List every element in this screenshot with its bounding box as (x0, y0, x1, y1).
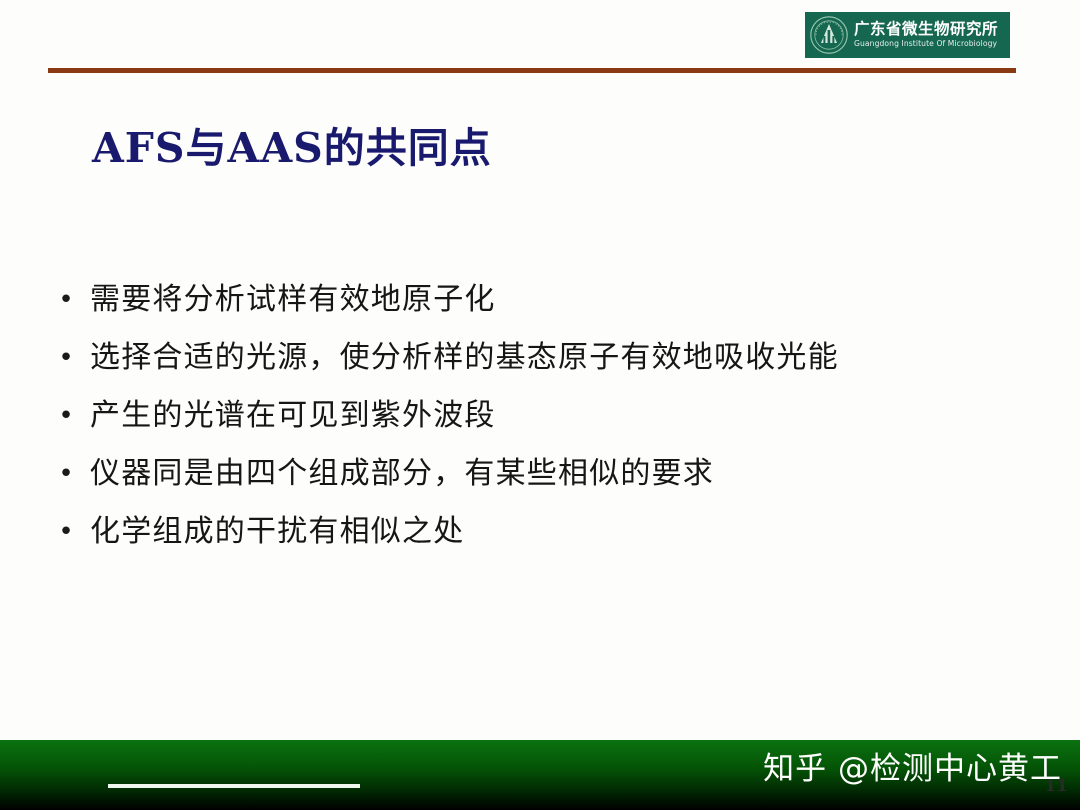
logo-text-block: 广东省微生物研究所 Guangdong Institute Of Microbi… (854, 22, 998, 48)
gim-circular-emblem-icon (809, 15, 849, 55)
footer-divider (108, 784, 360, 788)
institute-logo: 广东省微生物研究所 Guangdong Institute Of Microbi… (805, 12, 1010, 58)
bullet-marker-icon: • (42, 452, 90, 496)
bullet-list: • 需要将分析试样有效地原子化 • 选择合适的光源，使分析样的基态原子有效地吸收… (42, 278, 1042, 568)
list-item-label: 产生的光谱在可见到紫外波段 (90, 394, 496, 438)
list-item: • 选择合适的光源，使分析样的基态原子有效地吸收光能 (42, 336, 1042, 394)
list-item-label: 需要将分析试样有效地原子化 (90, 278, 496, 322)
bullet-marker-icon: • (42, 510, 90, 554)
list-item: • 需要将分析试样有效地原子化 (42, 278, 1042, 336)
bullet-marker-icon: • (42, 336, 90, 380)
logo-name-cn: 广东省微生物研究所 (854, 22, 998, 38)
list-item: • 化学组成的干扰有相似之处 (42, 510, 1042, 568)
list-item: • 产生的光谱在可见到紫外波段 (42, 394, 1042, 452)
watermark-label: 知乎 @检测中心黄工 (763, 748, 1062, 790)
page-title: AFS与AAS的共同点 (92, 114, 492, 174)
slide-canvas: 广东省微生物研究所 Guangdong Institute Of Microbi… (0, 0, 1080, 810)
slide-footer-bar: 11 知乎 @检测中心黄工 (0, 740, 1080, 810)
list-item-label: 化学组成的干扰有相似之处 (90, 510, 464, 554)
header-divider (48, 68, 1016, 73)
bullet-marker-icon: • (42, 278, 90, 322)
logo-name-en: Guangdong Institute Of Microbiology (854, 40, 998, 48)
bullet-marker-icon: • (42, 394, 90, 438)
list-item-label: 选择合适的光源，使分析样的基态原子有效地吸收光能 (90, 336, 839, 380)
list-item: • 仪器同是由四个组成部分，有某些相似的要求 (42, 452, 1042, 510)
list-item-label: 仪器同是由四个组成部分，有某些相似的要求 (90, 452, 714, 496)
